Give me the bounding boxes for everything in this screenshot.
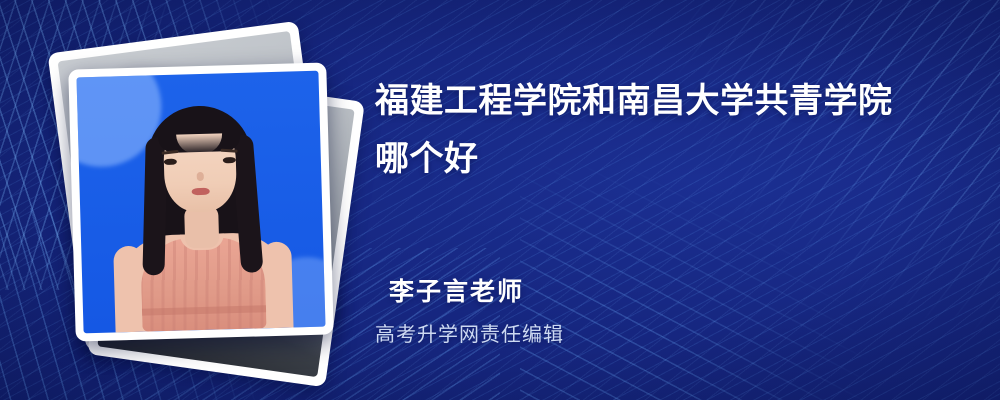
portrait-nose bbox=[197, 172, 204, 181]
portrait-hair-fringe bbox=[158, 111, 241, 153]
portrait-mouth bbox=[192, 188, 210, 195]
photo-card-stack bbox=[48, 28, 348, 376]
author-id-photo bbox=[76, 71, 325, 334]
portrait-eye-left bbox=[164, 159, 177, 165]
banner-headline: 福建工程学院和南昌大学共青学院 哪个好 bbox=[375, 72, 980, 188]
portrait-eye-right bbox=[223, 157, 236, 163]
author-photo-card bbox=[68, 62, 333, 341]
banner-text-content: 福建工程学院和南昌大学共青学院 哪个好 李子言老师 高考升学网责任编辑 bbox=[375, 0, 980, 400]
author-portrait bbox=[103, 95, 299, 332]
article-cover-banner: 福建工程学院和南昌大学共青学院 哪个好 李子言老师 高考升学网责任编辑 bbox=[0, 0, 1000, 400]
author-name: 李子言老师 bbox=[389, 272, 524, 308]
author-role: 高考升学网责任编辑 bbox=[375, 318, 564, 347]
